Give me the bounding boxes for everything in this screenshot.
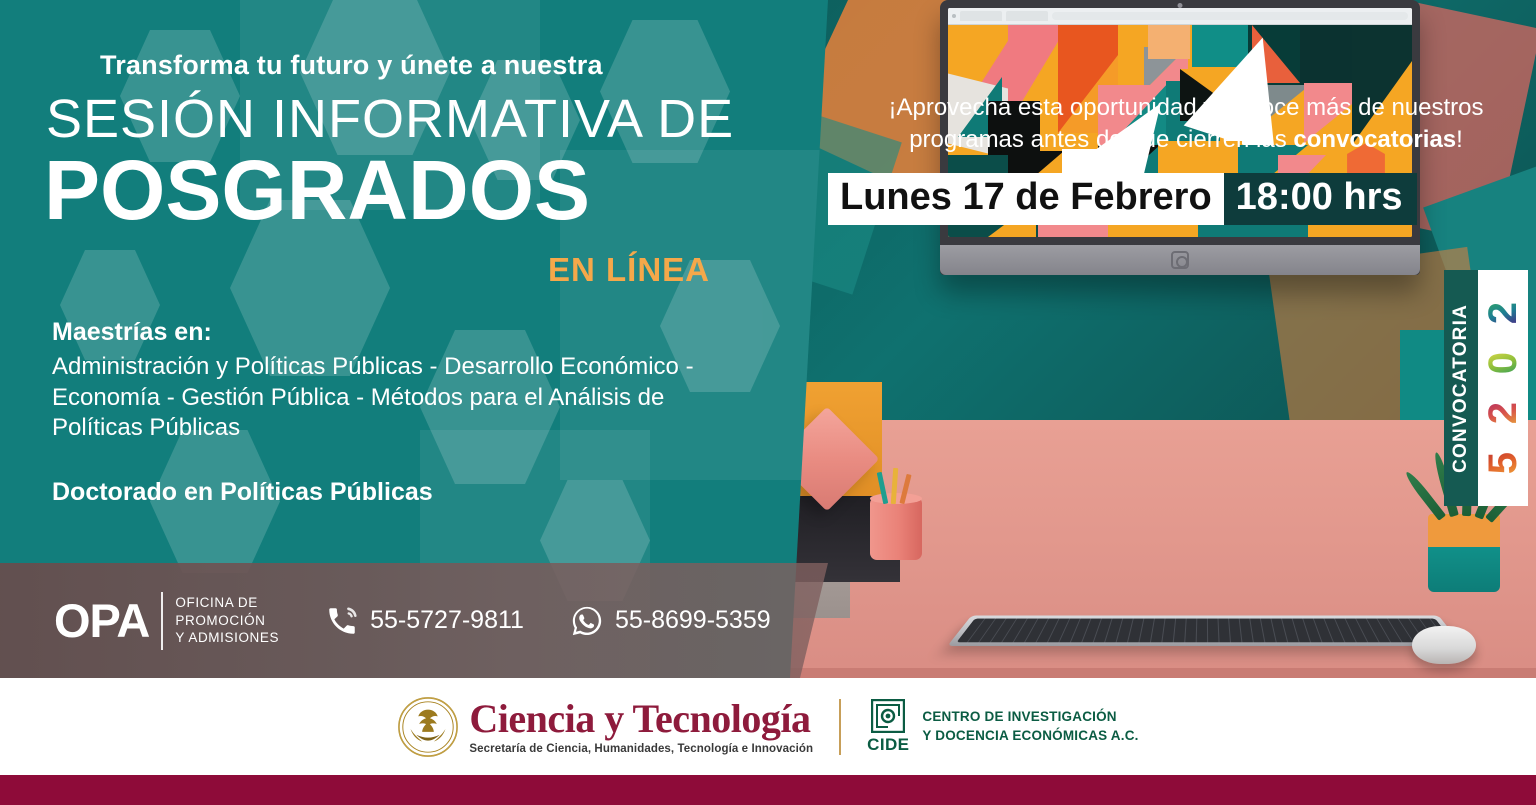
browser-toolbar <box>948 8 1412 25</box>
phone-contact[interactable]: 55-5727-9811 <box>325 604 524 638</box>
cide-fullname-line2: Y DOCENCIA ECONÓMICAS A.C. <box>922 727 1138 745</box>
year-strip: 2 0 2 5 <box>1478 270 1528 506</box>
year-digit: 2 <box>1486 302 1520 324</box>
kicker-text: Transforma tu futuro y únete a nuestra <box>100 50 603 81</box>
mexican-eagle-seal-icon <box>397 696 459 758</box>
browser-address-bar <box>1052 12 1408 20</box>
gobierno-text: Ciencia y Tecnología Secretaría de Cienc… <box>469 699 813 755</box>
opa-subtitle-line1: OFICINA DE <box>175 594 279 612</box>
year-digit: 5 <box>1486 452 1520 474</box>
pencil-cup <box>870 498 922 560</box>
cide-fullname: CENTRO DE INVESTIGACIÓN Y DOCENCIA ECONÓ… <box>922 708 1138 744</box>
phone-number: 55-5727-9811 <box>370 606 524 635</box>
year-digit: 2 <box>1486 402 1520 424</box>
browser-dot-icon <box>952 14 956 18</box>
doctorate-program: Doctorado en Políticas Públicas <box>52 478 433 507</box>
promo-line-2: programas antes de que cierren las convo… <box>836 124 1536 156</box>
wallpaper-shape <box>1300 25 1360 89</box>
masters-line-1: Administración y Políticas Públicas - De… <box>52 352 842 383</box>
convocatoria-strip: CONVOCATORIA <box>1444 270 1478 506</box>
opa-divider <box>161 592 163 650</box>
masters-line-3: Políticas Públicas <box>52 413 842 444</box>
cide-spiral-icon <box>871 699 905 733</box>
whatsapp-icon <box>570 604 604 638</box>
whatsapp-contact[interactable]: 55-8699-5359 <box>570 604 771 638</box>
event-date: Lunes 17 de Febrero <box>828 173 1224 225</box>
convocatoria-label: CONVOCATORIA <box>1450 304 1472 473</box>
promo-line2-suffix: ! <box>1456 126 1463 153</box>
masters-line-2: Economía - Gestión Pública - Métodos par… <box>52 383 842 414</box>
opa-acronym: OPA <box>54 597 149 644</box>
gobierno-lockup: Ciencia y Tecnología Secretaría de Cienc… <box>397 696 813 758</box>
desk-edge <box>760 668 1536 678</box>
gobierno-title: Ciencia y Tecnología <box>469 699 813 739</box>
cide-fullname-line1: CENTRO DE INVESTIGACIÓN <box>922 708 1138 726</box>
keyboard <box>947 615 1462 646</box>
masters-heading: Maestrías en: <box>52 318 212 347</box>
gobierno-subtitle: Secretaría de Ciencia, Humanidades, Tecn… <box>469 743 813 755</box>
year-digit: 0 <box>1486 352 1520 374</box>
monitor-chin <box>940 245 1420 275</box>
modality-label: EN LÍNEA <box>548 251 710 289</box>
promo-line-1: ¡Aprovecha esta oportunidad y conoce más… <box>836 92 1536 124</box>
promo-headline: ¡Aprovecha esta oportunidad y conoce más… <box>836 92 1536 155</box>
plant-pot <box>1428 514 1500 592</box>
monitor-brand-icon <box>1171 251 1189 269</box>
page-title-line1: SESIÓN INFORMATIVA DE <box>46 92 734 146</box>
opa-subtitle-line3: Y ADMISIONES <box>175 629 279 647</box>
cide-acronym: CIDE <box>867 735 909 755</box>
opa-subtitle-line2: PROMOCIÓN <box>175 612 279 630</box>
browser-tab <box>960 11 1002 21</box>
institutional-footer: Ciencia y Tecnología Secretaría de Cienc… <box>0 678 1536 775</box>
bottom-accent-bar <box>0 775 1536 805</box>
event-date-bar: Lunes 17 de Febrero 18:00 hrs <box>828 173 1417 225</box>
phone-icon <box>325 604 359 638</box>
contact-bar: OPA OFICINA DE PROMOCIÓN Y ADMISIONES 55… <box>0 563 828 678</box>
cide-lockup: CIDE CENTRO DE INVESTIGACIÓN Y DOCENCIA … <box>867 699 1138 755</box>
wallpaper-shape <box>1148 25 1190 59</box>
opa-logo: OPA OFICINA DE PROMOCIÓN Y ADMISIONES <box>54 592 279 650</box>
whatsapp-number: 55-8699-5359 <box>615 606 771 635</box>
browser-tab <box>1006 11 1048 21</box>
masters-program-list: Administración y Políticas Públicas - De… <box>52 352 842 444</box>
opa-subtitle: OFICINA DE PROMOCIÓN Y ADMISIONES <box>175 594 279 647</box>
event-time: 18:00 hrs <box>1224 173 1417 225</box>
promo-line2-prefix: programas antes de que cierren las <box>909 126 1293 153</box>
cide-mark: CIDE <box>867 699 909 755</box>
page-title-line2: POSGRADOS <box>44 148 590 232</box>
promotional-banner: Transforma tu futuro y únete a nuestra S… <box>0 0 1536 805</box>
keyboard-keys <box>957 619 1454 643</box>
computer-mouse <box>1412 626 1476 664</box>
promo-emphasis: convocatorias <box>1293 126 1456 153</box>
footer-divider <box>839 699 841 755</box>
